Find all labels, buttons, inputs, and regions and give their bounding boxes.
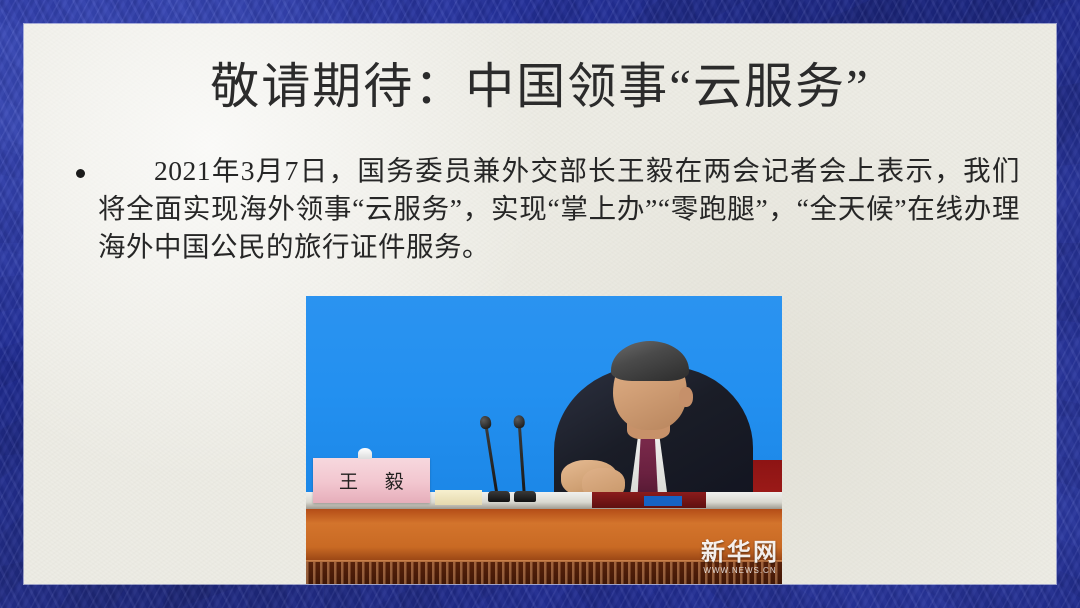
xinhua-watermark: 新华网 WWW.NEWS.CN (701, 541, 779, 575)
xinhua-watermark-url: WWW.NEWS.CN (701, 567, 779, 575)
photo-papers (435, 490, 483, 505)
press-conference-photo: 王 毅 新华网 WWW.NEWS.CN (306, 296, 782, 584)
body-paragraph-text: 2021年3月7日，国务委员兼外交部长王毅在两会记者会上表示，我们将全面实现海外… (98, 152, 1020, 266)
photo-blue-card (644, 496, 682, 507)
bullet-marker (76, 169, 98, 178)
microphone-base-left (488, 491, 510, 502)
bullet-paragraph: 2021年3月7日，国务委员兼外交部长王毅在两会记者会上表示，我们将全面实现海外… (76, 152, 1020, 266)
slide-content-area: 敬请期待：中国领事“云服务” 2021年3月7日，国务委员兼外交部长王毅在两会记… (24, 24, 1056, 584)
xinhua-watermark-logo: 新华网 (701, 541, 779, 565)
slide-canvas: 敬请期待：中国领事“云服务” 2021年3月7日，国务委员兼外交部长王毅在两会记… (0, 0, 1080, 608)
photo-speaker-ear (679, 387, 693, 407)
photo-nameplate-knob (358, 448, 372, 459)
microphone-base-right (514, 491, 536, 502)
photo-nameplate-text: 王 毅 (328, 467, 415, 494)
photo-nameplate: 王 毅 (313, 458, 430, 503)
page-title: 敬请期待：中国领事“云服务” (24, 60, 1056, 114)
